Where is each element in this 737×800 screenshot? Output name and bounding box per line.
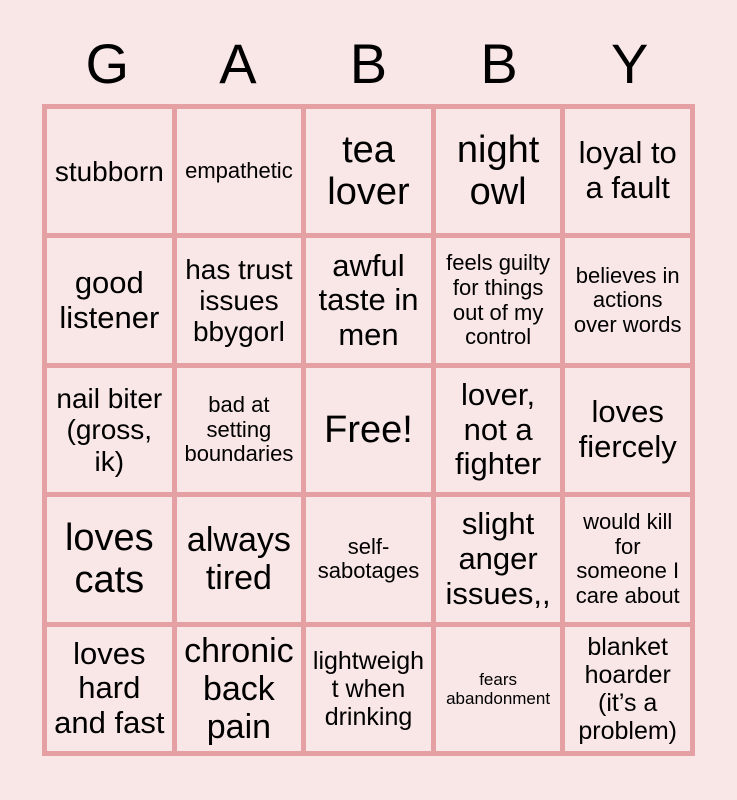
bingo-cell-label: has trust issues bbygorl [182,254,297,348]
bingo-header-letter-5: Y [564,28,695,100]
bingo-cell[interactable]: stubborn [47,109,177,238]
bingo-cell[interactable]: night owl [436,109,566,238]
bingo-cell-label: blanket hoarder (it’s a problem) [570,633,685,745]
bingo-cell-label: slight anger issues,, [441,507,556,611]
bingo-grid: stubborn empathetic tea lover night owl … [42,104,695,756]
bingo-cell[interactable]: always tired [177,497,307,626]
bingo-cell-label: stubborn [52,156,167,187]
bingo-cell-label: loyal to a fault [570,136,685,205]
bingo-cell[interactable]: loves cats [47,497,177,626]
bingo-cell-label: feels guilty for things out of my contro… [441,251,556,350]
bingo-cell[interactable]: good listener [47,238,177,367]
bingo-cell[interactable]: tea lover [306,109,436,238]
bingo-cell-label: night owl [441,129,556,214]
bingo-cell-label: lover, not a fighter [441,378,556,482]
bingo-cell-label: believes in actions over words [570,264,685,338]
bingo-cell[interactable]: has trust issues bbygorl [177,238,307,367]
bingo-cell[interactable]: blanket hoarder (it’s a problem) [565,627,695,756]
bingo-header-letter-1: G [42,28,173,100]
bingo-cell[interactable]: bad at setting boundaries [177,368,307,497]
bingo-cell[interactable]: believes in actions over words [565,238,695,367]
bingo-cell[interactable]: loyal to a fault [565,109,695,238]
bingo-cell[interactable]: lightweight when drinking [306,627,436,756]
bingo-cell-label: Free! [311,409,426,452]
bingo-cell-label: fears abandonment [441,670,556,708]
bingo-header-letter-4: B [434,28,565,100]
bingo-cell-label: loves fiercely [570,395,685,464]
bingo-cell-label: lightweight when drinking [311,647,426,731]
bingo-cell[interactable]: awful taste in men [306,238,436,367]
bingo-cell[interactable]: lover, not a fighter [436,368,566,497]
bingo-card: G A B B Y stubborn empathetic tea lover … [0,0,737,800]
bingo-cell-label: tea lover [311,129,426,214]
bingo-cell-label: always tired [182,521,297,597]
bingo-header-letter-2: A [173,28,304,100]
bingo-cell-label: bad at setting boundaries [182,393,297,467]
bingo-cell-label: loves cats [52,517,167,602]
bingo-cell-label: would kill for someone I care about [570,510,685,609]
bingo-cell-label: empathetic [182,159,297,184]
bingo-cell[interactable]: nail biter (gross, ik) [47,368,177,497]
bingo-cell[interactable]: loves fiercely [565,368,695,497]
bingo-cell[interactable]: self-sabotages [306,497,436,626]
bingo-cell-label: good listener [52,266,167,335]
bingo-cell-label: self-sabotages [311,535,426,584]
bingo-cell-label: nail biter (gross, ik) [52,383,167,477]
bingo-cell[interactable]: loves hard and fast [47,627,177,756]
bingo-cell[interactable]: fears abandonment [436,627,566,756]
bingo-cell-free-space[interactable]: Free! [306,368,436,497]
bingo-header-row: G A B B Y [42,28,695,100]
bingo-cell[interactable]: slight anger issues,, [436,497,566,626]
bingo-cell[interactable]: would kill for someone I care about [565,497,695,626]
bingo-cell[interactable]: feels guilty for things out of my contro… [436,238,566,367]
bingo-cell[interactable]: chronic back pain [177,627,307,756]
bingo-cell[interactable]: empathetic [177,109,307,238]
bingo-cell-label: awful taste in men [311,249,426,353]
bingo-header-letter-3: B [303,28,434,100]
bingo-cell-label: chronic back pain [182,632,297,746]
bingo-cell-label: loves hard and fast [52,637,167,741]
